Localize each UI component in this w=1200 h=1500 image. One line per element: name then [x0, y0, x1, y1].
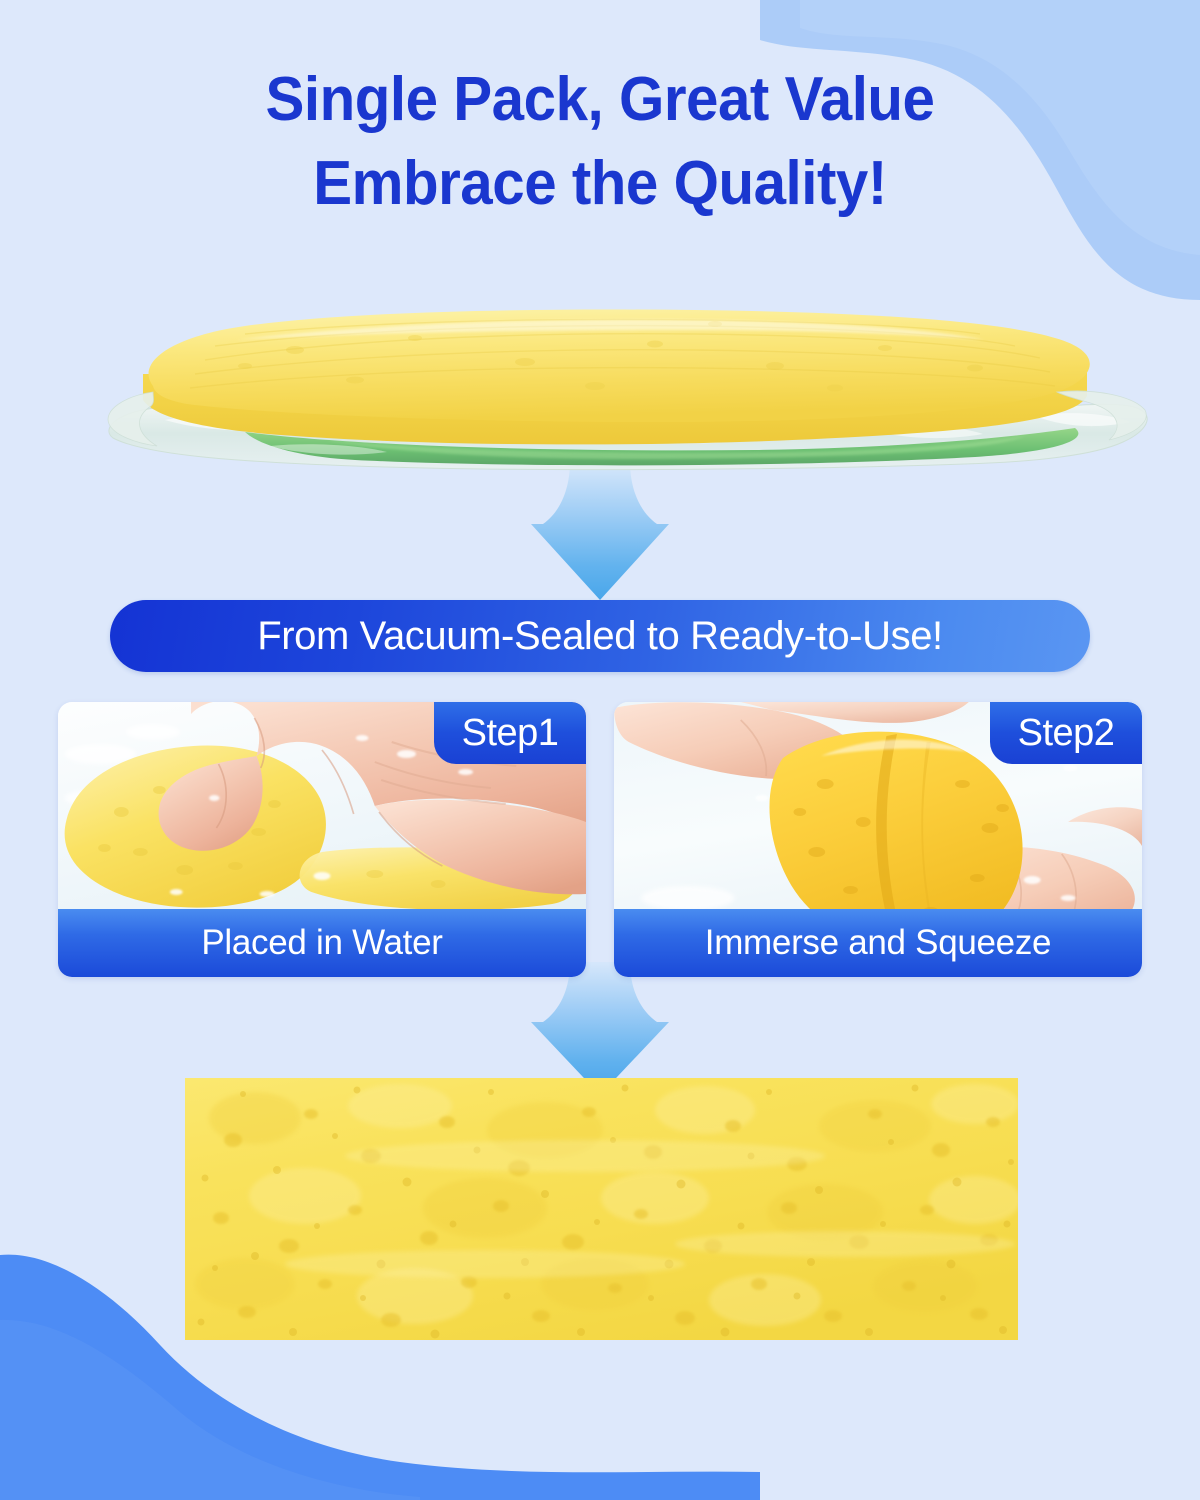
- down-arrow-icon: [515, 962, 685, 1097]
- arrow-shape: [531, 962, 669, 1095]
- process-banner: From Vacuum-Sealed to Ready-to-Use!: [110, 600, 1090, 672]
- expanded-yellow-sponge-block: [185, 1078, 1018, 1340]
- step-cards-row: Step1 Placed in Water: [0, 702, 1200, 977]
- step-badge-1: Step1: [434, 702, 586, 764]
- step-badge-1-label: Step1: [462, 712, 559, 755]
- process-banner-label: From Vacuum-Sealed to Ready-to-Use!: [257, 614, 943, 659]
- headline-line-2: Embrace the Quality!: [36, 142, 1164, 226]
- headline-line-1: Single Pack, Great Value: [36, 58, 1164, 142]
- step-caption-1-label: Placed in Water: [201, 923, 442, 963]
- step-badge-2-label: Step2: [1018, 712, 1115, 755]
- step-badge-2: Step2: [990, 702, 1142, 764]
- step-caption-2-label: Immerse and Squeeze: [705, 923, 1051, 963]
- vacuum-sealed-sponge-pack-image: [95, 300, 1155, 500]
- step-caption-1: Placed in Water: [58, 909, 586, 977]
- step-caption-2: Immerse and Squeeze: [614, 909, 1142, 977]
- step-card-2[interactable]: Step2 Immerse and Squeeze: [614, 702, 1142, 977]
- page-title: Single Pack, Great Value Embrace the Qua…: [0, 58, 1200, 226]
- step-card-1[interactable]: Step1 Placed in Water: [58, 702, 586, 977]
